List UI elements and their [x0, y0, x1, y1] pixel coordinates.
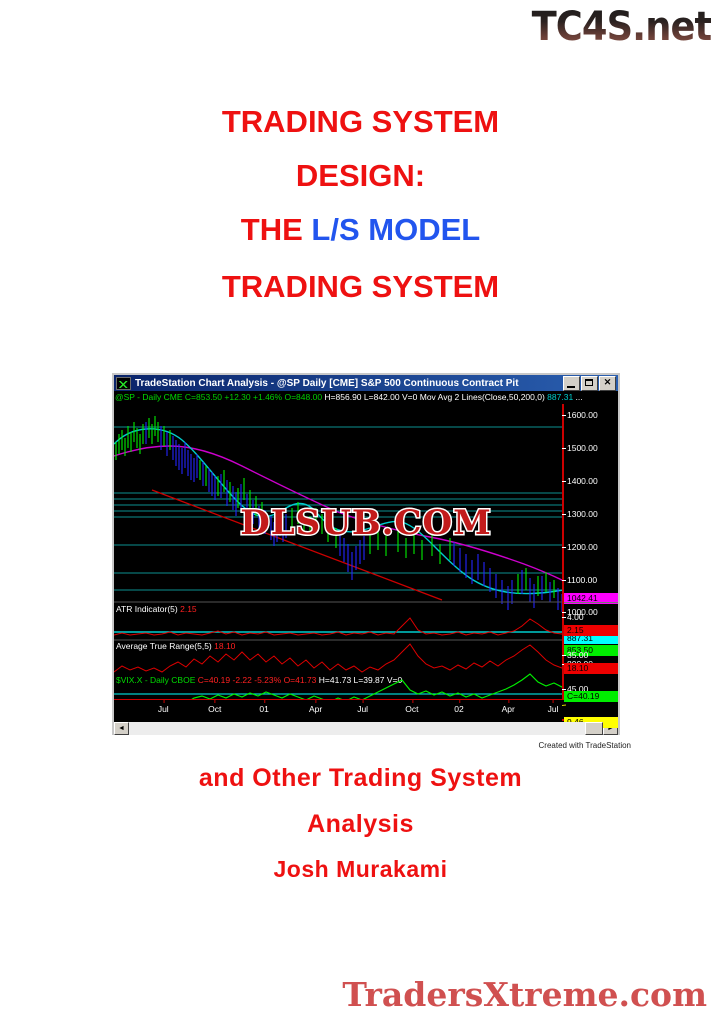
tradersxtreme-logo: TradersXtreme.com: [342, 975, 707, 1014]
vix-exchange: CBOE: [171, 675, 195, 685]
horizontal-scrollbar[interactable]: ◄ ►: [114, 721, 618, 735]
dataline-open: O=848.00: [284, 392, 322, 402]
price-tick-1400: 1400.00: [567, 476, 598, 486]
average-true-range-name: Average True Range(5,5): [116, 641, 212, 651]
close-button[interactable]: ✕: [599, 376, 616, 391]
maximize-button[interactable]: [581, 376, 598, 391]
vix-volume: V=0: [387, 675, 402, 685]
dataline-volume: V=0: [402, 392, 417, 402]
xtick-02: 02: [454, 704, 463, 714]
minimize-button[interactable]: [563, 376, 580, 391]
price-tick-1100: 1100.00: [567, 575, 597, 585]
xtick-jul-01: Jul: [357, 704, 368, 714]
average-true-range-value: 18.10: [214, 641, 235, 651]
title-ls-model: L/S MODEL: [311, 212, 480, 247]
window-titlebar[interactable]: TradeStation Chart Analysis - @SP Daily …: [114, 375, 618, 391]
scroll-left-button[interactable]: ◄: [114, 722, 129, 735]
xtick-01: 01: [259, 704, 268, 714]
atr55-value-marker: 18.10: [564, 663, 618, 674]
title-line-1: TRADING SYSTEM: [0, 106, 721, 137]
xtick-oct-00: Oct: [208, 704, 221, 714]
average-true-range-label: Average True Range(5,5) 18.10: [116, 641, 235, 651]
chart-svg: [114, 404, 562, 700]
tradestation-chart-window[interactable]: TradeStation Chart Analysis - @SP Daily …: [112, 373, 620, 735]
scrollbar-thumb[interactable]: [585, 722, 603, 735]
atr-indicator-label: ATR Indicator(5) 2.15: [116, 604, 197, 614]
created-with-caption: Created with TradeStation: [0, 741, 721, 750]
dataline-change: +12.30: [224, 392, 250, 402]
atr-tick-4: 4.00: [567, 612, 584, 622]
chart-plot-area[interactable]: @SP - Daily CME C=853.50 +12.30 +1.46% O…: [114, 391, 618, 721]
atr55-tick-35: 35.00: [567, 650, 588, 660]
price-tick-1500: 1500.00: [567, 443, 598, 453]
dataline-symbol: @SP - Daily: [115, 392, 161, 402]
xtick-oct-01: Oct: [405, 704, 418, 714]
vix-close: C=40.19: [198, 675, 230, 685]
dataline-ellipsis: ...: [576, 392, 583, 402]
subtitle-line-1: and Other Trading System: [0, 766, 721, 791]
quote-dataline: @SP - Daily CME C=853.50 +12.30 +1.46% O…: [115, 392, 618, 404]
xtick-apr-01: Apr: [309, 704, 322, 714]
dataline-low: L=842.00: [364, 392, 400, 402]
dataline-high: H=856.90: [324, 392, 361, 402]
xtick-jul-02: Jul: [548, 704, 559, 714]
price-tick-1200: 1200.00: [567, 542, 598, 552]
subtitle-line-2: Analysis: [0, 812, 721, 837]
price-tick-1600: 1600.00: [567, 410, 598, 420]
title-line-2: DESIGN:: [0, 160, 721, 191]
page-title: TRADING SYSTEM DESIGN: THE L/S MODEL TRA…: [0, 106, 721, 325]
vix-change: -2.22: [233, 675, 252, 685]
atr-indicator-value: 2.15: [180, 604, 197, 614]
title-line-4: TRADING SYSTEM: [0, 271, 721, 302]
price-tick-1300: 1300.00: [567, 509, 598, 519]
xtick-apr-02: Apr: [502, 704, 515, 714]
atr-indicator-name: ATR Indicator(5): [116, 604, 178, 614]
dataline-close: C=853.50: [185, 392, 222, 402]
tradestation-chart-icon: [116, 377, 131, 390]
vix-symbol: $VIX.X - Daily: [116, 675, 169, 685]
vix-low: L=39.87: [354, 675, 385, 685]
subtitle-block: and Other Trading System Analysis Josh M…: [0, 766, 721, 902]
window-title-text: TradeStation Chart Analysis - @SP Daily …: [135, 378, 562, 389]
dataline-study: Mov Avg 2 Lines(Close,50,200,0): [420, 392, 545, 402]
price-scale[interactable]: 1600.00 1500.00 1400.00 1300.00 1200.00 …: [562, 404, 618, 700]
dataline-study-value: 887.31: [547, 392, 573, 402]
atr-value-marker: 2.15: [564, 625, 618, 636]
vix-dataline: $VIX.X - Daily CBOE C=40.19 -2.22 -5.23%…: [116, 675, 402, 685]
dataline-exchange: CME: [164, 392, 183, 402]
dataline-change-pct: +1.46%: [253, 392, 282, 402]
xtick-jul-00: Jul: [158, 704, 169, 714]
title-line-3: THE L/S MODEL: [0, 214, 721, 245]
tc4s-logo: TC4S.net: [531, 4, 711, 50]
vix-change-pct: -5.23%: [254, 675, 281, 685]
author-name: Josh Murakami: [0, 858, 721, 881]
date-axis: Jul Oct 01 Apr Jul Oct 02 Apr Jul: [114, 699, 562, 721]
vix-high: H=41.73: [319, 675, 351, 685]
title-the: THE: [241, 212, 312, 247]
scrollbar-track[interactable]: [129, 722, 603, 735]
vix-value-marker: C=40.19: [564, 691, 618, 702]
price-and-indicator-canvas[interactable]: [114, 404, 562, 700]
vix-open: O=41.73: [284, 675, 317, 685]
